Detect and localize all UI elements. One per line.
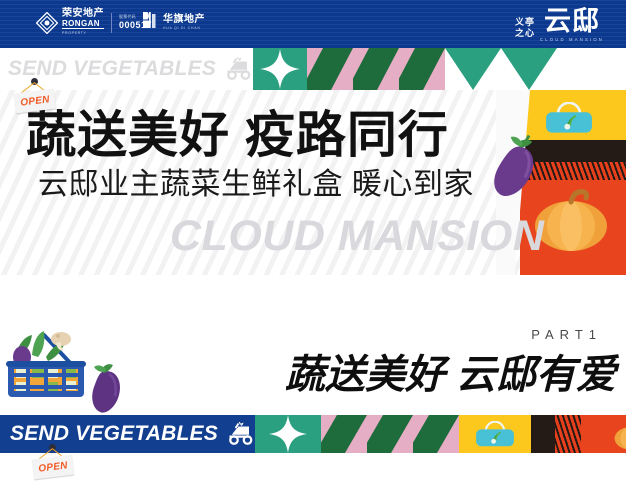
brand-name-cn: 云邸 — [544, 7, 600, 36]
top-banner-strip: SEND VEGETABLES — [0, 48, 626, 90]
bottom-cell-stripe-3 — [413, 415, 459, 453]
bottom-cell-yellow-bag — [459, 415, 531, 453]
hero-section: 蔬送美好 疫路同行 云邸业主蔬菜生鲜礼盒 暖心到家 CLOUD MANSION — [0, 90, 626, 275]
brand-motto-line1: 义亭 — [515, 17, 535, 28]
open-sign-text-bottom: OPEN — [38, 460, 69, 475]
logo-rongan-text: 荣安地产 RONGAN PROPERTY — [62, 9, 104, 36]
building-emblem-icon — [140, 10, 159, 35]
pattern-cell-triangles — [445, 48, 557, 90]
pumpkin-icon-bottom — [601, 419, 626, 451]
hero-title: 蔬送美好 疫路同行 — [26, 108, 449, 162]
logo-rongan: 荣安地产 RONGAN PROPERTY 股票代码 000517 — [36, 9, 152, 36]
bottom-cell-orange-pumpkin — [581, 415, 626, 453]
header-bar: 荣安地产 RONGAN PROPERTY 股票代码 000517 华旗地产 — [0, 0, 626, 48]
logo-divider — [111, 13, 112, 33]
shopping-bag-icon — [538, 102, 600, 136]
vegetable-basket-icon — [6, 323, 136, 413]
bottom-banner-strip: SEND VEGETABLES — [0, 415, 626, 453]
logo-rongan-en: RONGAN — [62, 19, 104, 29]
open-sign-top: OPEN — [12, 78, 58, 112]
four-point-star-icon — [260, 49, 300, 89]
open-sign-board-top: OPEN — [14, 89, 56, 114]
hero-subtitle: 云邸业主蔬菜生鲜礼盒 暖心到家 — [38, 168, 474, 202]
brand-motto-line2: 之心 — [515, 28, 535, 39]
bottom-cell-dark — [531, 415, 555, 453]
logo-huaqi-sub: HUA QI DI CHAN — [163, 25, 205, 31]
bottom-cell-teal-star — [255, 415, 321, 453]
brand-main: 云邸 CLOUD MANSION — [540, 7, 604, 43]
lower-title: 蔬送美好 云邸有爱 — [285, 353, 616, 397]
lower-section: PART1 蔬送美好 云邸有爱 — [0, 305, 626, 415]
delivery-scooter-icon-bottom — [225, 421, 255, 447]
pattern-cell-stripe-1 — [307, 48, 353, 90]
logo-huaqi-text: 华旗地产 HUA QI DI CHAN — [163, 14, 205, 31]
poster-page: 荣安地产 RONGAN PROPERTY 股票代码 000517 华旗地产 — [0, 0, 626, 491]
logo-huaqi-cn: 华旗地产 — [163, 14, 205, 25]
pattern-cell-teal-star — [253, 48, 307, 90]
pattern-cell-stripe-3 — [399, 48, 445, 90]
part-label: PART1 — [531, 327, 602, 342]
diamond-emblem-icon — [36, 12, 58, 34]
bottom-cell-orange-stripe — [555, 415, 581, 453]
open-sign-text-top: OPEN — [20, 94, 51, 109]
hero-watermark: CLOUD MANSION — [170, 212, 544, 261]
section-gap — [0, 275, 626, 305]
four-point-star-icon-bottom — [269, 415, 307, 453]
bottom-cell-stripe-1 — [321, 415, 367, 453]
open-sign-board-bottom: OPEN — [32, 455, 74, 480]
brand-logo: 义亭 之心 云邸 CLOUD MANSION — [515, 7, 604, 43]
open-sign-bottom: OPEN — [30, 444, 76, 478]
brand-name-en: CLOUD MANSION — [540, 36, 604, 43]
pattern-cell-stripe-2 — [353, 48, 399, 90]
delivery-scooter-icon — [223, 56, 253, 82]
logo-rongan-cn: 荣安地产 — [62, 9, 104, 19]
logo-huaqi: 华旗地产 HUA QI DI CHAN — [140, 10, 205, 35]
eggplant-icon-lower — [92, 364, 120, 412]
bottom-strip-label: SEND VEGETABLES — [10, 422, 218, 446]
footer-whitespace — [0, 453, 626, 491]
logo-rongan-sub: PROPERTY — [62, 30, 104, 36]
shopping-bag-icon-bottom — [467, 421, 523, 449]
brand-motto: 义亭 之心 — [515, 17, 535, 39]
bottom-cell-stripe-2 — [367, 415, 413, 453]
